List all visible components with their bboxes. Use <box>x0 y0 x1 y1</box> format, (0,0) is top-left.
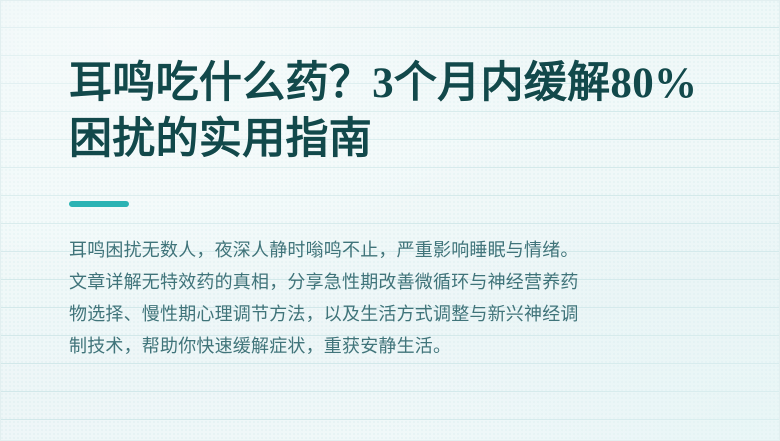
card-content: 耳鸣吃什么药？3个月内缓解80% 困扰的实用指南 耳鸣困扰无数人，夜深人静时嗡鸣… <box>69 1 729 441</box>
page-title: 耳鸣吃什么药？3个月内缓解80% 困扰的实用指南 <box>69 56 719 168</box>
article-cover-card: 耳鸣吃什么药？3个月内缓解80% 困扰的实用指南 耳鸣困扰无数人，夜深人静时嗡鸣… <box>0 0 780 441</box>
article-summary: 耳鸣困扰无数人，夜深人静时嗡鸣不止，严重影响睡眠与情绪。 文章详解无特效药的真相… <box>69 234 717 362</box>
accent-divider <box>69 201 129 207</box>
